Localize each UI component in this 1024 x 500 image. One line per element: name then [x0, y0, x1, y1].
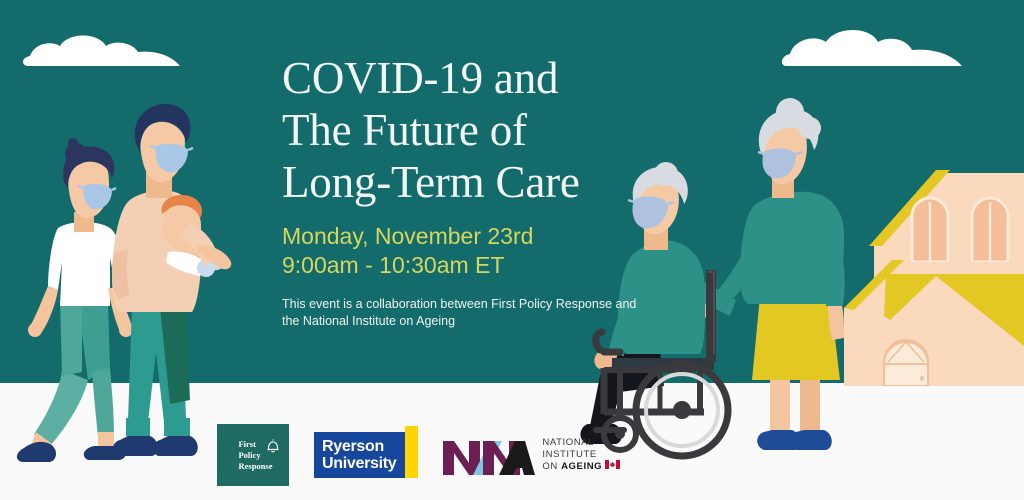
- ryerson-yellow-bar: [405, 426, 418, 478]
- ryerson-wordmark-box: Ryerson University: [314, 432, 405, 478]
- event-time: 9:00am - 10:30am ET: [282, 251, 642, 280]
- man-holding-baby-with-mask: [112, 104, 231, 456]
- event-date: Monday, November 23rd: [282, 222, 642, 251]
- nia-logo[interactable]: NATIONAL INSTITUTE ON AGEING: [443, 435, 620, 475]
- first-policy-response-logo[interactable]: First Policy Response: [217, 424, 289, 486]
- fpr-line-3: Response: [238, 461, 272, 472]
- event-datetime: Monday, November 23rd 9:00am - 10:30am E…: [282, 222, 642, 280]
- nia-line-3: ON AGEING: [542, 460, 620, 473]
- page-title: COVID-19 and The Future of Long-Term Car…: [282, 52, 642, 208]
- ryerson-university-logo[interactable]: Ryerson University: [314, 432, 418, 478]
- ryerson-line-1: Ryerson: [322, 438, 396, 455]
- nia-line-2: INSTITUTE: [542, 449, 620, 461]
- title-line-1: COVID-19 and: [282, 52, 642, 104]
- title-line-3: Long-Term Care: [282, 156, 642, 208]
- event-banner: COVID-19 and The Future of Long-Term Car…: [0, 0, 1024, 500]
- logo-row: First Policy Response Ryerson University: [217, 424, 620, 486]
- nia-line-3-prefix: ON: [542, 461, 561, 472]
- banner-text-block: COVID-19 and The Future of Long-Term Car…: [282, 52, 642, 330]
- nia-wordmark: NATIONAL INSTITUTE ON AGEING: [542, 437, 620, 473]
- event-blurb: This event is a collaboration between Fi…: [282, 296, 647, 330]
- nia-line-1: NATIONAL: [542, 437, 620, 449]
- bell-icon: [266, 439, 280, 459]
- canada-flag-icon: [605, 460, 620, 473]
- nia-line-3-bold: AGEING: [561, 461, 602, 472]
- title-line-2: The Future of: [282, 104, 642, 156]
- ryerson-line-2: University: [322, 455, 396, 472]
- nia-monogram: [443, 435, 535, 475]
